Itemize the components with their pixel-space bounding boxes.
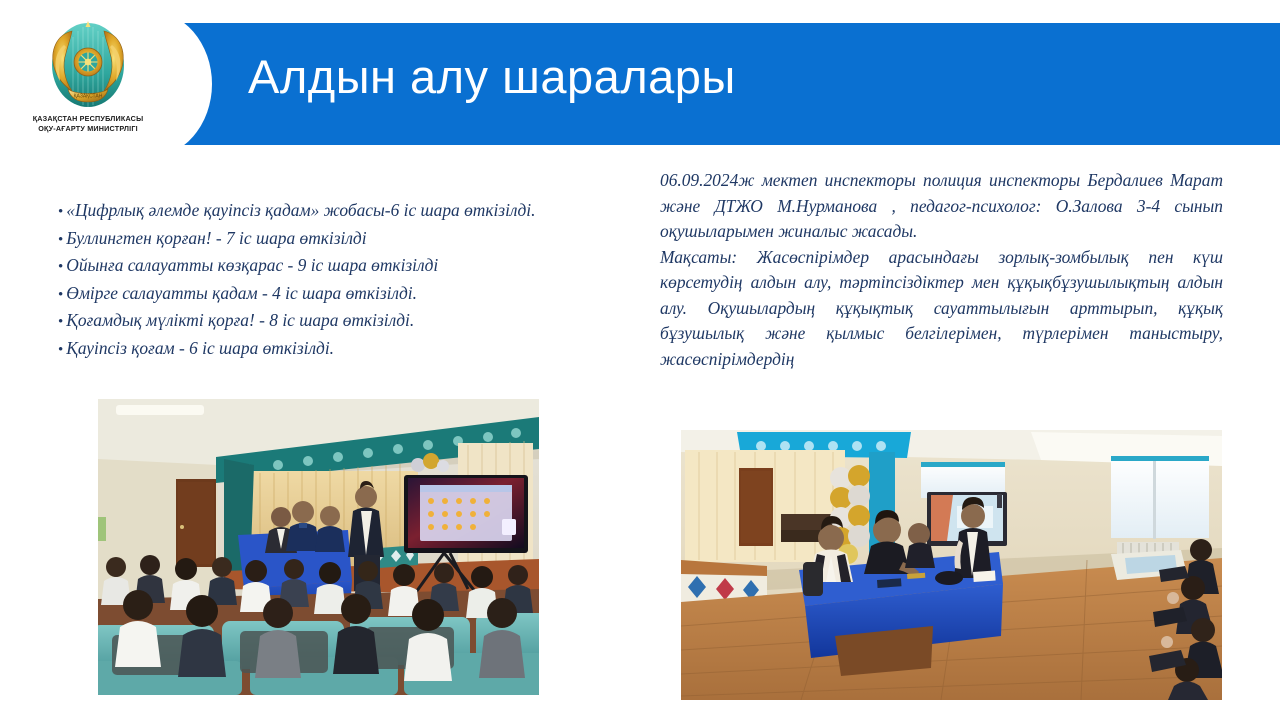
kazakhstan-coat-of-arms-icon: ҚАЗАҚСТАН [42,15,134,111]
list-item-text: Ойынға салауатты көзқарас - 9 іс шара өт… [66,255,438,275]
event-description-paragraph: 06.09.2024ж мектеп инспекторы полиция ин… [660,168,1223,245]
list-item-text: Буллингтен қорған! - 7 іс шара өткізілді [66,228,366,248]
ministry-caption-line-2: ОҚУ-АҒАРТУ МИНИСТРЛІГІ [18,124,158,134]
ministry-caption-line-1: ҚАЗАҚСТАН РЕСПУБЛИКАСЫ [18,114,158,124]
list-item-text: «Цифрлық әлемде қауіпсіз қадам» жобасы-6… [66,200,535,220]
event-description-block: 06.09.2024ж мектеп инспекторы полиция ин… [660,168,1223,372]
measures-bullet-list: •«Цифрлық әлемде қауіпсіз қадам» жобасы-… [58,198,570,363]
list-item-text: Қауіпсіз қоғам - 6 іс шара өткізілді. [66,338,334,358]
page-title: Алдын алу шаралары [248,40,1248,114]
svg-text:ҚАЗАҚСТАН: ҚАЗАҚСТАН [74,94,103,100]
ministry-logo-caption: ҚАЗАҚСТАН РЕСПУБЛИКАСЫ ОҚУ-АҒАРТУ МИНИСТ… [18,114,158,134]
list-item: •Буллингтен қорған! - 7 іс шара өткізілд… [58,226,570,254]
page-header: Алдын алу шаралары [0,0,1280,150]
event-purpose-paragraph: Мақсаты: Жасөспірімдер арасындағы зорлық… [660,245,1223,373]
photo-school-assembly-hall [98,399,539,695]
list-item: •Ойынға салауатты көзқарас - 9 іс шара ө… [58,253,570,281]
ministry-logo: ҚАЗАҚСТАН ҚАЗАҚСТАН РЕСПУБЛИКАСЫ ОҚУ-АҒА… [18,12,158,144]
photo-classroom-meeting [681,430,1222,700]
list-item: •Өмірге салауатты қадам - 4 іс шара өткі… [58,281,570,309]
list-item: •«Цифрлық әлемде қауіпсіз қадам» жобасы-… [58,198,570,226]
list-item: •Қауіпсіз қоғам - 6 іс шара өткізілді. [58,336,570,364]
list-item-text: Қоғамдық мүлікті қорға! - 8 іс шара өткі… [66,310,414,330]
list-item: •Қоғамдық мүлікті қорға! - 8 іс шара өтк… [58,308,570,336]
list-item-text: Өмірге салауатты қадам - 4 іс шара өткіз… [66,283,417,303]
